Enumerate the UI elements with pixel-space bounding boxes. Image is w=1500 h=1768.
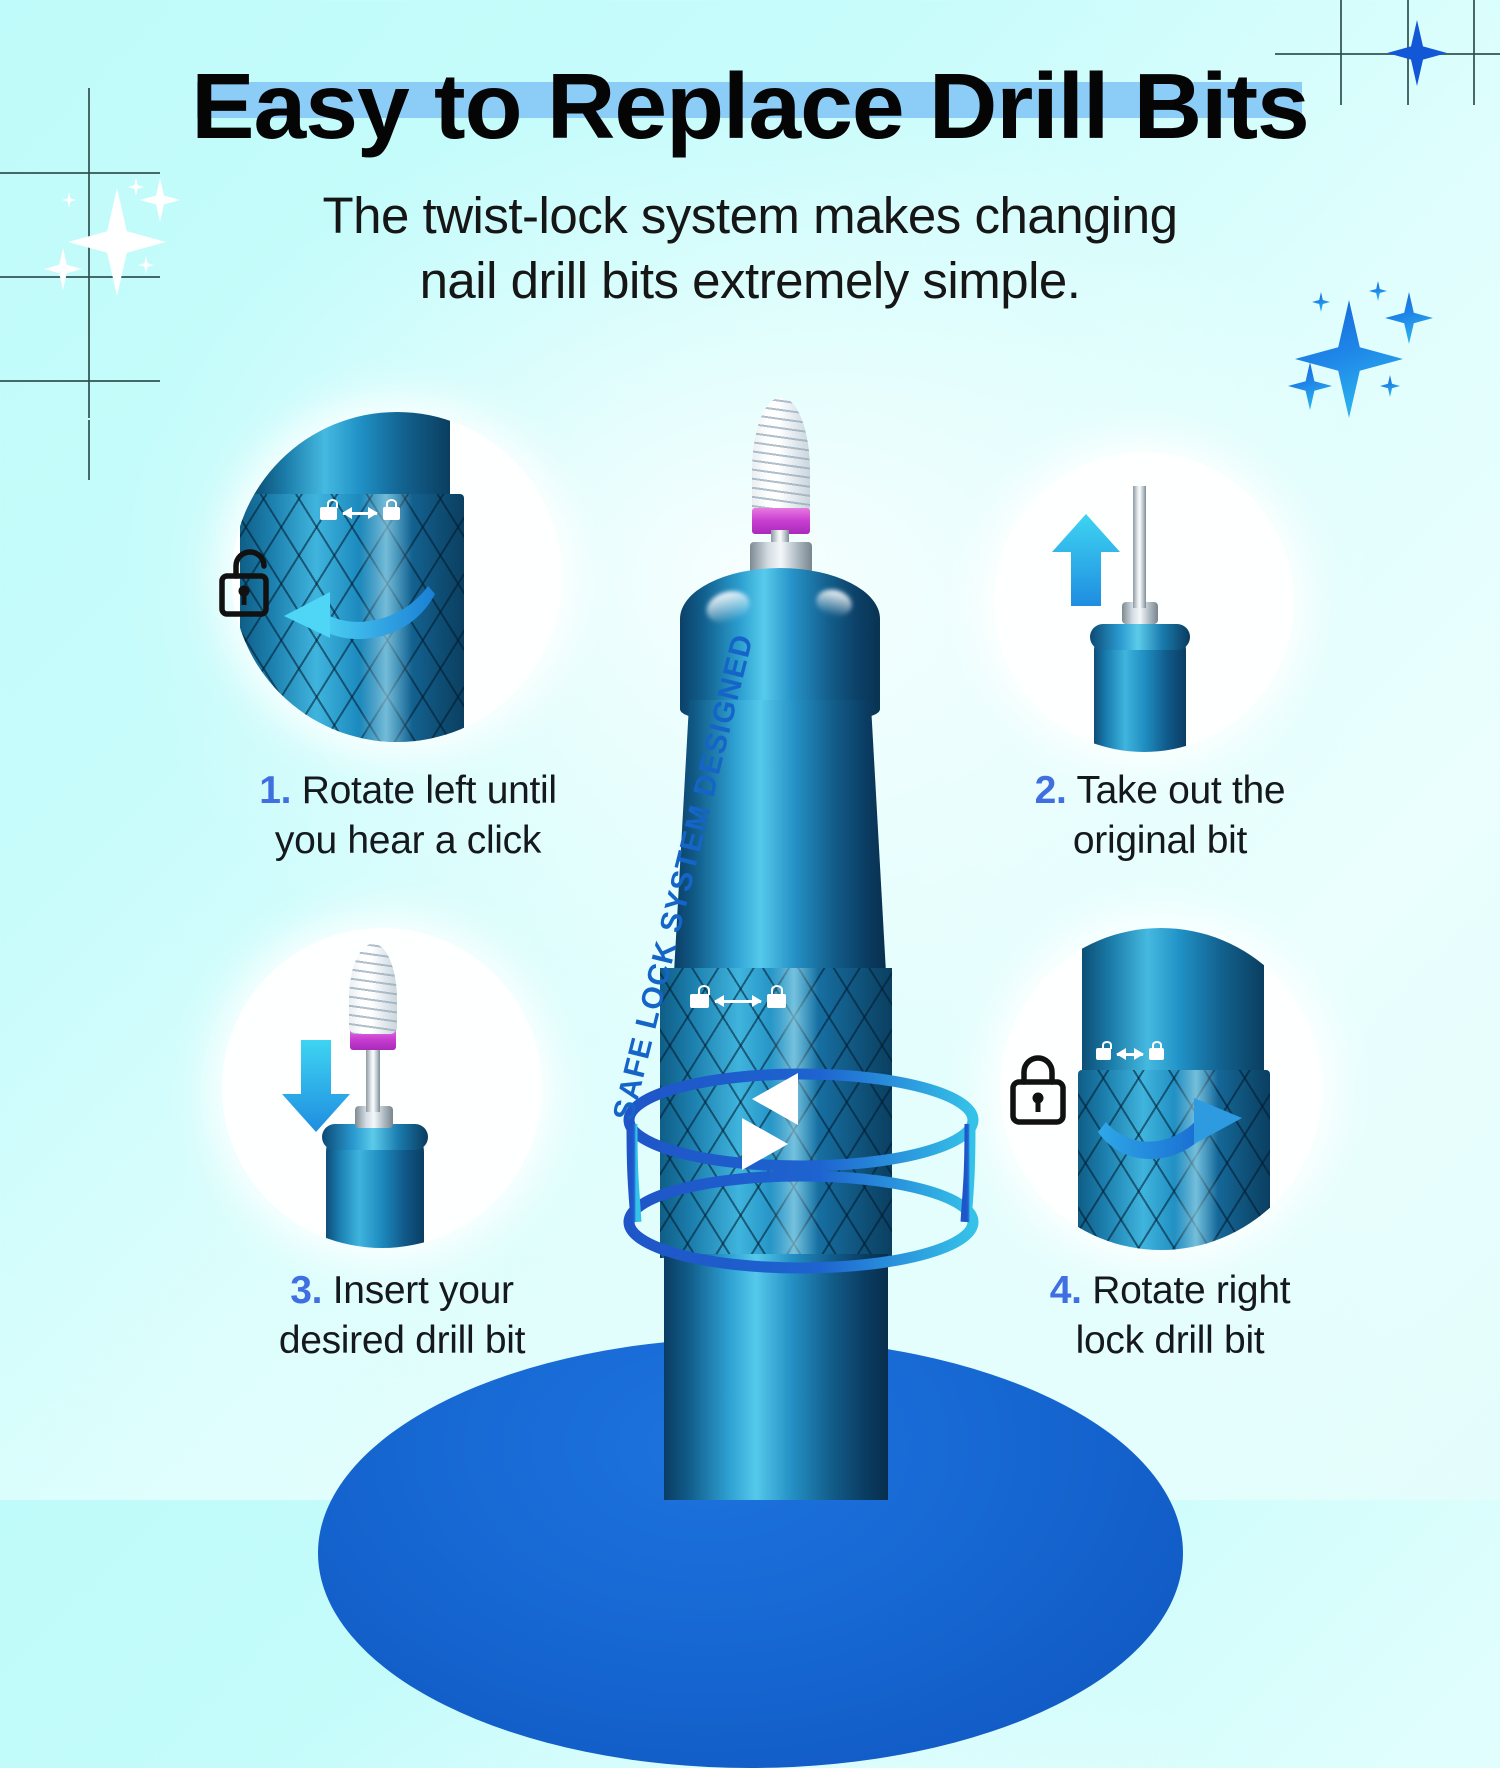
padlock-body (383, 507, 400, 520)
arrow-up-icon (1052, 514, 1120, 606)
rotation-arrow-right-icon (742, 1118, 788, 1170)
bit-collar (750, 542, 812, 574)
step-3-illustration (222, 928, 542, 1248)
lock-indicator-decal (320, 504, 400, 522)
step-2-number: 2. (1035, 769, 1067, 812)
head-gloss (702, 586, 753, 628)
lock-icon (767, 994, 786, 1008)
rotation-arrow-left-icon (752, 1073, 798, 1125)
sparkle-icon (1380, 375, 1400, 397)
bit-band (752, 508, 810, 534)
subtitle-line-1: The twist-lock system makes changing (0, 183, 1500, 248)
bit-flutes (752, 398, 810, 516)
device-shaft-taper (672, 700, 888, 970)
unlock-icon (320, 507, 337, 520)
padlock-shackle (1152, 1041, 1162, 1049)
brand-vertical-text: SAFE LOCK SYSTEM DESIGNED (607, 631, 761, 1124)
device-head (680, 568, 880, 718)
lock-icon (383, 507, 400, 520)
chuck-collar (1090, 624, 1190, 650)
arrow-down-icon (282, 1040, 350, 1132)
padlock-shackle (327, 499, 338, 508)
head-gloss (813, 586, 854, 620)
double-arrow-icon (1117, 1053, 1143, 1056)
barrel-top (254, 412, 450, 506)
sparkle-icon (1288, 362, 1332, 410)
barrel-sheen (770, 968, 818, 1258)
step-2-caption: 2. Take out the original bit (980, 766, 1340, 866)
step-2-illustration (994, 452, 1294, 752)
unlock-icon (690, 994, 709, 1008)
subtitle-line-2: nail drill bits extremely simple. (0, 248, 1500, 313)
step-1-line-1: Rotate left until (302, 769, 557, 812)
step-1-number: 1. (259, 769, 291, 812)
padlock-body (767, 994, 786, 1008)
step-4-line-1: Rotate right (1092, 1269, 1290, 1312)
lock-indicator-decal (690, 992, 786, 1010)
step-4-line-2: lock drill bit (1076, 1319, 1265, 1362)
grid-line-horizontal (0, 380, 160, 382)
padlock-body (690, 994, 709, 1008)
curved-arrow-left-icon (270, 564, 440, 654)
knurl-texture (660, 968, 892, 1258)
ceramic-drill-bit (349, 944, 397, 1034)
bit-shank (366, 1046, 380, 1112)
step-4-number: 4. (1050, 1269, 1082, 1312)
unlock-icon (218, 542, 282, 620)
podium-circle (318, 1338, 1183, 1768)
padlock-body (1096, 1048, 1111, 1060)
curved-arrow-right-icon (1096, 1088, 1256, 1172)
padlock-shackle (698, 985, 710, 995)
padlock-body (1149, 1048, 1164, 1060)
step-1-caption: 1. Rotate left until you hear a click (178, 766, 638, 866)
page-title-wrap: Easy to Replace Drill Bits (0, 58, 1500, 156)
step-1-line-2: you hear a click (275, 819, 541, 862)
step-3-line-2: desired drill bit (279, 1319, 525, 1362)
step-2-line-2: original bit (1073, 819, 1247, 862)
rotation-spiral (606, 1040, 996, 1340)
step-2-line-1: Take out the (1076, 769, 1285, 812)
lock-icon (1149, 1048, 1164, 1060)
padlock-shackle (771, 985, 783, 995)
double-arrow-icon (715, 1000, 761, 1003)
step-3-caption: 3. Insert your desired drill bit (212, 1266, 592, 1366)
grid-line-vertical (88, 420, 90, 480)
step-4-caption: 4. Rotate right lock drill bit (1000, 1266, 1340, 1366)
double-arrow-icon (343, 512, 377, 515)
bit-shank (1133, 486, 1146, 608)
page-subtitle: The twist-lock system makes changing nai… (0, 183, 1500, 314)
unlock-icon (1096, 1048, 1111, 1060)
bit-shank (771, 530, 789, 560)
padlock-shackle (1102, 1041, 1112, 1049)
step-3-number: 3. (290, 1269, 322, 1312)
ceramic-drill-bit (752, 398, 810, 516)
device-grip-barrel (660, 968, 892, 1258)
lock-indicator-decal (1096, 1046, 1164, 1062)
grid-line-horizontal (0, 172, 160, 174)
bit-flutes (349, 944, 397, 1034)
padlock-body (320, 507, 337, 520)
lock-icon (1010, 1050, 1072, 1126)
page-title: Easy to Replace Drill Bits (0, 58, 1500, 156)
step-3-line-1: Insert your (333, 1269, 514, 1312)
padlock-shackle (386, 499, 397, 508)
